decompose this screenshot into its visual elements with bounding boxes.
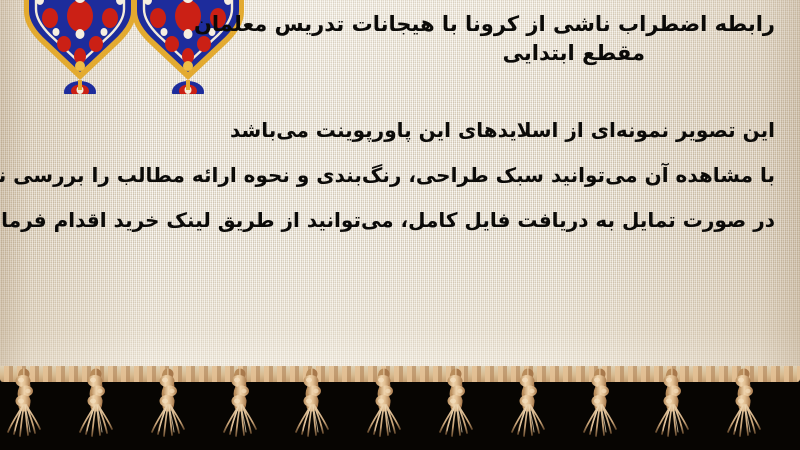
knotted-fringe-tassels (0, 362, 800, 450)
presentation-slide: رابطه اضطراب ناشی از کرونا با هیجانات تد… (0, 0, 800, 450)
body-line-design-review: با مشاهده آن می‌توانید سبک طراحی، رنگ‌بن… (23, 153, 775, 198)
slide-body: این تصویر نمونه‌ای از اسلایدهای این پاور… (23, 108, 775, 243)
slide-title-line-1: رابطه اضطراب ناشی از کرونا با هیجانات تد… (25, 10, 775, 39)
body-line-sample-notice: این تصویر نمونه‌ای از اسلایدهای این پاور… (23, 108, 775, 153)
slide-title-line-2: مقطع ابتدایی (25, 39, 775, 68)
slide-title: رابطه اضطراب ناشی از کرونا با هیجانات تد… (25, 10, 775, 68)
body-line-purchase-link: در صورت تمایل به دریافت فایل کامل، می‌تو… (23, 198, 775, 243)
